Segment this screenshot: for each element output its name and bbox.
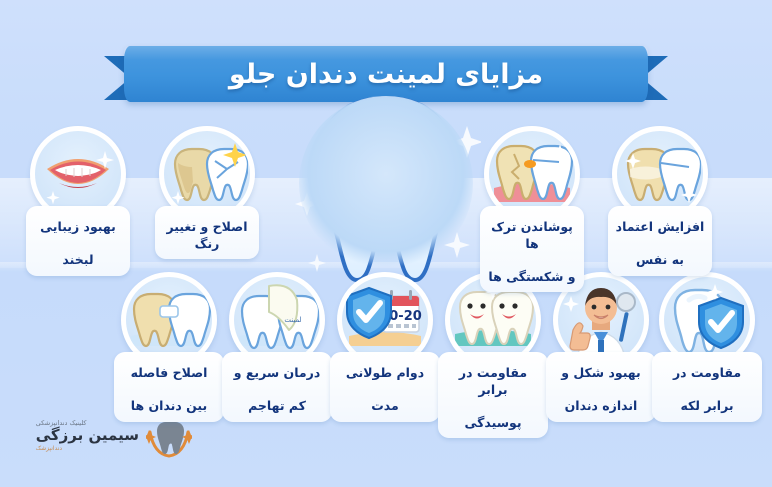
card-label: درمان سریع وکم تهاجم (222, 352, 332, 422)
hero-glow (299, 96, 473, 270)
card-fast-treatment[interactable]: لمینت درمان سریع وکم تهاجم (222, 272, 332, 422)
infographic-canvas: مزایای لمینت دندان جلو (0, 0, 772, 487)
shield-calendar-icon: 10-20 (343, 278, 427, 362)
card-confidence[interactable]: افزایش اعتمادبه نفس (608, 126, 712, 276)
card-label-text: اصلاح و تغییر رنگ (160, 219, 254, 252)
tooth-shield-icon (665, 278, 749, 362)
card-label-text: درمان سریع وکم تهاجم (234, 365, 321, 415)
veneer-icon-text: لمینت (284, 316, 301, 324)
card-label: اصلاح فاصلهبین دندان ها (114, 352, 224, 422)
card-label: مقاومت دربرابر لکه (652, 352, 762, 422)
card-label: بهبود شکل واندازه دندان (546, 352, 656, 422)
card-label: مقاومت در برابرپوسیدگی (438, 352, 548, 438)
clinic-role: دندانپزشک (36, 446, 62, 452)
card-label: افزایش اعتمادبه نفس (608, 206, 712, 276)
cracked-tooth-icon (490, 132, 574, 216)
card-label-text: اصلاح فاصلهبین دندان ها (131, 365, 208, 415)
card-smile-beauty[interactable]: بهبود زیباییلبخند (26, 126, 130, 276)
card-label-text: بهبود زیباییلبخند (40, 219, 116, 269)
card-stain-resistance[interactable]: مقاومت دربرابر لکه (652, 272, 762, 422)
logo-text-block: کلینیک دندانپزشکی سیمین برزگی دندانپزشک (36, 420, 139, 453)
card-cover-cracks[interactable]: پوشاندن ترک هاو شکستگی ها (480, 126, 584, 292)
card-label-text: مقاومت در برابرپوسیدگی (443, 365, 543, 431)
tooth-whitening-icon (166, 133, 248, 215)
thumbs-up-icon (570, 323, 590, 350)
veneer-shell-icon: لمینت (235, 278, 319, 362)
card-label-text: دوام طولانیمدت (346, 365, 424, 415)
tooth-gap-icon (127, 278, 211, 362)
dental-mirror-icon (617, 293, 635, 342)
card-decay-resistance[interactable]: مقاومت در برابرپوسیدگی (438, 272, 548, 438)
clinic-name: سیمین برزگی (36, 428, 139, 443)
card-gap-correction[interactable]: اصلاح فاصلهبین دندان ها (114, 272, 224, 422)
card-label-text: مقاومت دربرابر لکه (673, 365, 741, 415)
card-label-text: بهبود شکل واندازه دندان (561, 365, 641, 415)
card-label: پوشاندن ترک هاو شکستگی ها (480, 206, 584, 292)
card-label: اصلاح و تغییر رنگ (155, 206, 259, 259)
card-label-text: افزایش اعتمادبه نفس (616, 219, 705, 269)
card-color-correction[interactable]: اصلاح و تغییر رنگ (155, 126, 259, 259)
card-label: دوام طولانیمدت (330, 352, 440, 422)
card-long-lasting[interactable]: 10-20 دوام طولانیمدت (330, 272, 440, 422)
smiling-mouth-icon (37, 133, 119, 215)
card-shape-size[interactable]: بهبود شکل واندازه دندان (546, 272, 656, 422)
two-teeth-veneer-icon (619, 133, 701, 215)
hero-tooth-mascot (291, 82, 481, 297)
card-label-text: پوشاندن ترک هاو شکستگی ها (485, 219, 579, 285)
card-label: بهبود زیباییلبخند (26, 206, 130, 276)
